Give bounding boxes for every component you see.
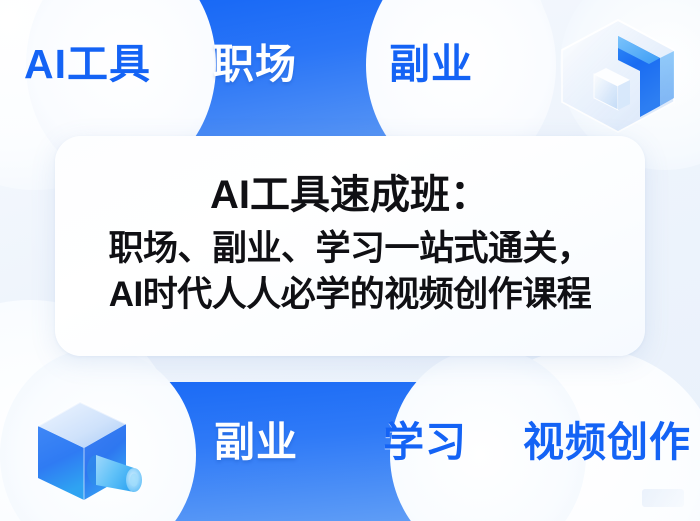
card-title: AI工具速成班： — [210, 172, 490, 218]
plug-cube-icon — [22, 392, 152, 514]
card-subtitle-line-2: AI时代人人必学的视频创作课程 — [109, 275, 592, 316]
tag-workplace[interactable]: 职场 — [213, 44, 297, 85]
tag-study[interactable]: 学习 — [383, 422, 467, 463]
tag-ai-tools[interactable]: AI工具 — [24, 44, 151, 85]
tag-video-creation[interactable]: 视频创作 — [523, 422, 691, 463]
hex-cube-icon — [548, 14, 688, 136]
blue-band-bottom-left-cutout — [0, 348, 196, 521]
poster-canvas: AI工具 职场 副业 — [0, 0, 700, 521]
card-subtitle-line-1: 职场、副业、学习一站式通关， — [108, 229, 591, 270]
watermark-mark — [642, 489, 684, 507]
tag-side-job-top[interactable]: 副业 — [389, 44, 473, 85]
tag-side-job-bottom[interactable]: 副业 — [214, 422, 298, 463]
main-content-card: AI工具速成班： 职场、副业、学习一站式通关， AI时代人人必学的视频创作课程 — [55, 136, 645, 356]
